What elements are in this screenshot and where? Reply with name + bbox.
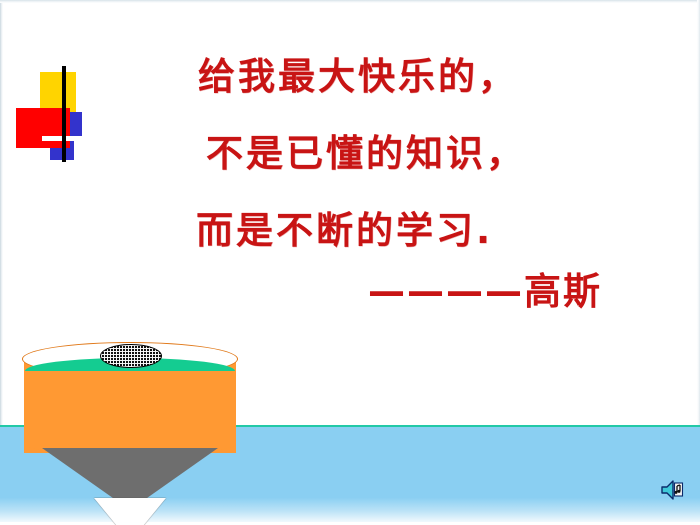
quote-attribution: ————高斯 <box>368 261 650 315</box>
slide-frame-top-edge <box>0 0 700 3</box>
speaker-with-notes-icon[interactable] <box>660 479 686 501</box>
presentation-slide: 给我最大快乐的， 不是已懂的知识， 而是不断的学习. ————高斯 <box>0 0 700 525</box>
logo-black-vertical-bar <box>62 66 66 162</box>
quote-line-2: 不是已懂的知识， <box>206 135 650 172</box>
quote-line-1: 给我最大快乐的， <box>198 58 650 95</box>
funnel-liquid-lower-mask <box>25 371 235 389</box>
logo-white-horizontal-bar <box>42 136 92 141</box>
funnel-illustration <box>18 336 246 516</box>
funnel-mesh-sieve-disc <box>100 344 162 368</box>
quote-block: 给我最大快乐的， 不是已懂的知识， 而是不断的学习. ————高斯 <box>150 58 650 315</box>
quote-line-3: 而是不断的学习. <box>196 212 650 249</box>
mondrian-logo <box>14 66 94 156</box>
funnel-white-tip <box>94 498 166 525</box>
